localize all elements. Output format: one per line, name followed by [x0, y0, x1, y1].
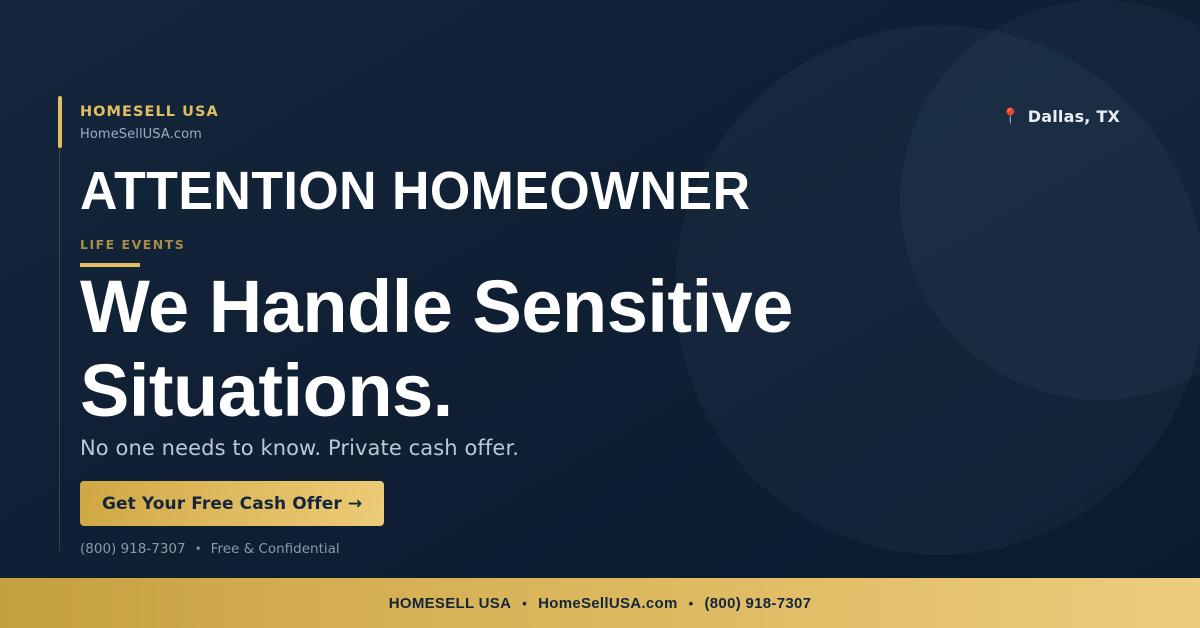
footer-phone: (800) 918-7307: [705, 595, 812, 612]
footer-brand: HOMESELL USA: [389, 595, 512, 612]
eyebrow-group: LIFE EVENTS: [80, 237, 185, 267]
footer-separator-1: •: [522, 596, 527, 611]
footer-separator-2: •: [689, 596, 694, 611]
left-rail-line: [59, 96, 60, 551]
headline-line-1: We Handle Sensitive: [80, 270, 793, 344]
brand-row: HOMESELL USA HomeSellUSA.com 📍 Dallas, T…: [80, 104, 1120, 142]
footer-bar: HOMESELL USA • HomeSellUSA.com • (800) 9…: [0, 578, 1200, 628]
headline: We Handle Sensitive Situations.: [80, 270, 793, 428]
brand-name: HOMESELL USA: [80, 104, 219, 121]
fineprint-note: Free & Confidential: [211, 541, 340, 557]
ad-creative: HOMESELL USA HomeSellUSA.com 📍 Dallas, T…: [0, 0, 1200, 628]
footer-website: HomeSellUSA.com: [538, 595, 678, 612]
attention-banner: ATTENTION HOMEOWNER: [80, 160, 751, 222]
ad-content: HOMESELL USA HomeSellUSA.com 📍 Dallas, T…: [80, 0, 1120, 578]
fineprint-phone: (800) 918-7307: [80, 541, 186, 557]
brand-website: HomeSellUSA.com: [80, 127, 219, 142]
location-badge: 📍 Dallas, TX: [1001, 107, 1120, 126]
eyebrow-label: LIFE EVENTS: [80, 237, 185, 252]
location-pin-icon: 📍: [1001, 109, 1020, 124]
fineprint: (800) 918-7307 • Free & Confidential: [80, 541, 340, 557]
headline-line-2: Situations.: [80, 354, 793, 428]
left-rail-accent: [58, 96, 62, 148]
subheadline: No one needs to know. Private cash offer…: [80, 436, 519, 460]
fineprint-separator: •: [195, 542, 202, 556]
cta-button[interactable]: Get Your Free Cash Offer →: [80, 481, 384, 526]
location-label: Dallas, TX: [1028, 107, 1120, 126]
brand-block: HOMESELL USA HomeSellUSA.com: [80, 104, 219, 142]
